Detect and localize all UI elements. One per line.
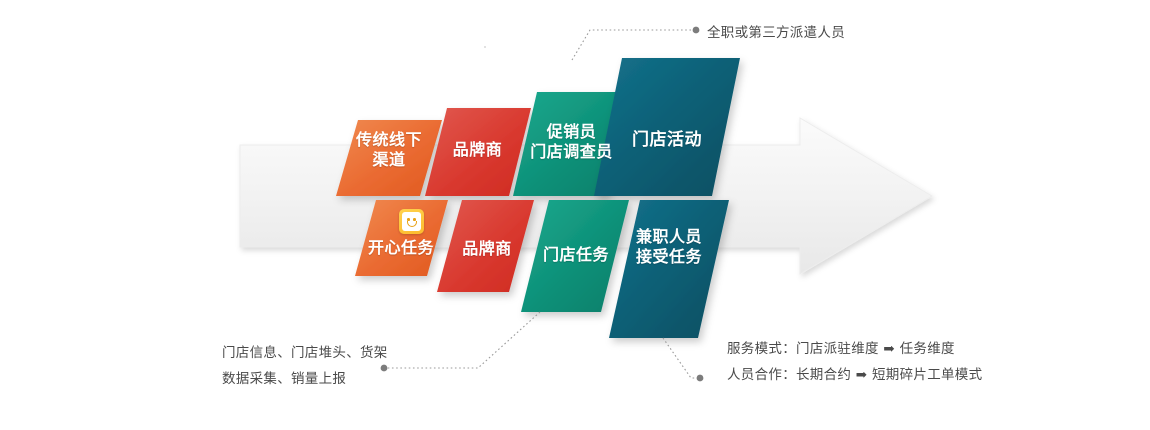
decorative-speck xyxy=(484,46,486,48)
smiley-face xyxy=(402,212,421,231)
smiley-icon xyxy=(399,209,424,234)
smiley-mouth xyxy=(407,221,417,227)
annotation-data-collection: 门店信息、门店堆头、货架 数据采集、销量上报 xyxy=(222,341,388,392)
leader-line-bottom-right xyxy=(663,338,703,381)
annotation-service-model: 服务模式：门店派驻维度 ➡ 任务维度 人员合作：长期合约 ➡ 短期碎片工单模式 xyxy=(727,337,982,388)
annotation-staffing: 全职或第三方派遣人员 xyxy=(707,21,845,47)
diagram-canvas: 传统线下 渠道 品牌商 促销员 门店调查员 门店活动 开心任务 品牌商 门店任务… xyxy=(0,0,1150,430)
leader-line-top xyxy=(572,27,699,60)
leader-line-bottom-left xyxy=(381,312,540,371)
